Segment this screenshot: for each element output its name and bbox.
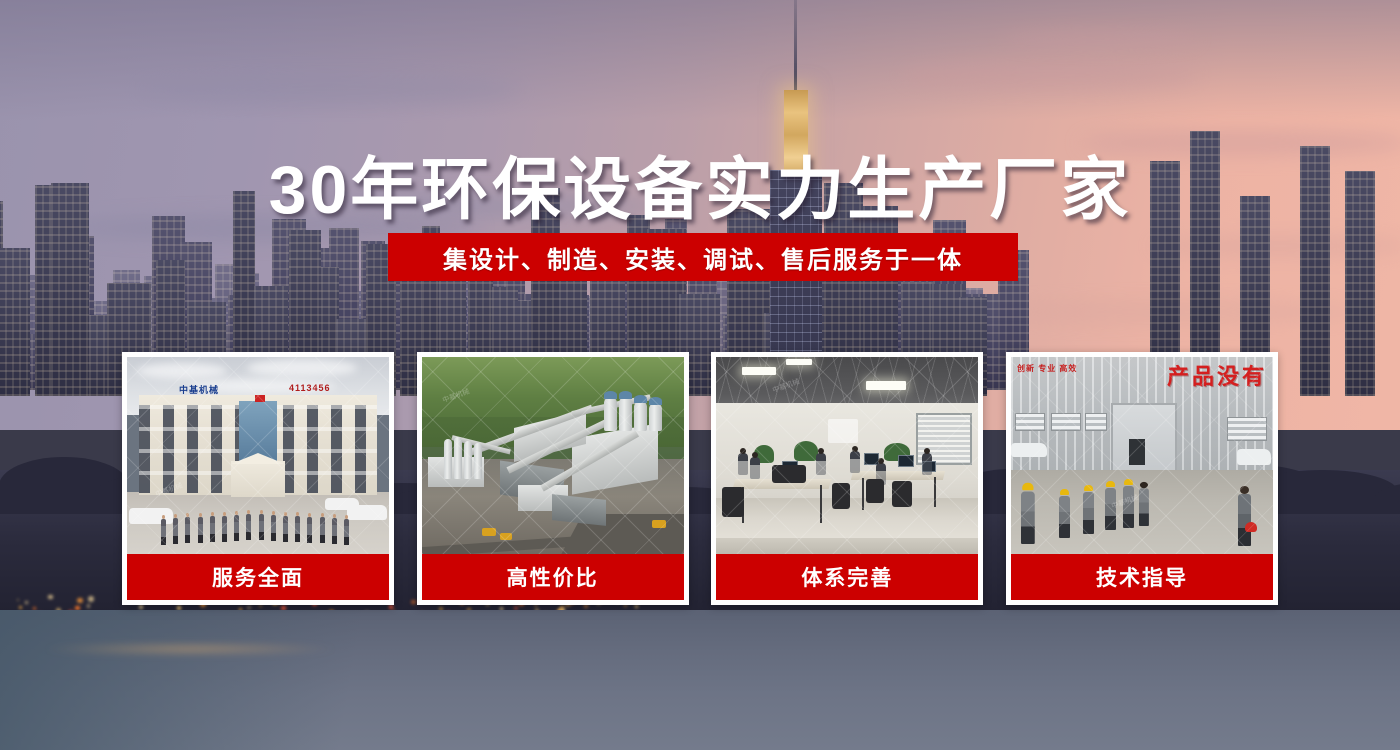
staff-figure bbox=[210, 516, 215, 542]
staff-figure bbox=[234, 515, 239, 541]
hero-banner: 30年环保设备实力生产厂家 集设计、制造、安装、调试、售后服务于一体 中基机械 … bbox=[0, 0, 1400, 750]
staff-figure bbox=[246, 514, 251, 540]
shore-light bbox=[139, 605, 143, 609]
card-photo-workers-training: 创新 专业 高效 产品没有 bbox=[1011, 357, 1273, 554]
card-photo-office-interior: 中基机械 bbox=[716, 357, 978, 554]
shore-light bbox=[88, 596, 94, 602]
subtitle-text: 集设计、制造、安装、调试、售后服务于一体 bbox=[443, 240, 963, 275]
subtitle-bar: 集设计、制造、安装、调试、售后服务于一体 bbox=[388, 233, 1018, 281]
card-photo-sign-text: 中基机械 bbox=[179, 383, 219, 396]
shore-light bbox=[48, 595, 52, 599]
shore-light bbox=[17, 599, 19, 601]
card-caption: 服务全面 bbox=[127, 554, 389, 600]
skyline-building bbox=[0, 248, 30, 396]
feature-card[interactable]: 中基机械 4113456 中基机械 服务全面 bbox=[122, 352, 394, 605]
card-photo-phone-text: 4113456 bbox=[289, 383, 331, 393]
staff-figure bbox=[271, 515, 276, 541]
shore-light bbox=[584, 604, 588, 608]
feature-card[interactable]: 中基机械 高性价比 bbox=[417, 352, 689, 605]
staff-figure bbox=[259, 514, 264, 540]
staff-figure bbox=[320, 517, 325, 543]
staff-figure bbox=[344, 519, 349, 545]
shore-light bbox=[247, 606, 251, 610]
staff-figure bbox=[295, 516, 300, 542]
card-caption: 体系完善 bbox=[716, 554, 978, 600]
page-title: 30年环保设备实力生产厂家 bbox=[0, 134, 1400, 233]
river-light-reflection bbox=[40, 643, 340, 655]
shore-light bbox=[259, 605, 261, 607]
staff-figure bbox=[307, 517, 312, 543]
feature-card-list: 中基机械 4113456 中基机械 服务全面 bbox=[122, 352, 1278, 605]
card-photo-headline-text: 产品没有 bbox=[1167, 359, 1267, 391]
tower-antenna bbox=[794, 0, 797, 95]
card-photo-office-building: 中基机械 4113456 中基机械 bbox=[127, 357, 389, 554]
staff-figure bbox=[161, 519, 166, 545]
shore-light bbox=[25, 601, 28, 604]
staff-figure bbox=[283, 516, 288, 542]
staff-figure bbox=[173, 518, 178, 544]
staff-figure bbox=[222, 516, 227, 542]
feature-card[interactable]: 创新 专业 高效 产品没有 bbox=[1006, 352, 1278, 605]
shore-light bbox=[77, 598, 83, 604]
river-shadow bbox=[0, 610, 460, 750]
staff-figure bbox=[332, 518, 337, 544]
staff-figure bbox=[185, 517, 190, 543]
staff-figure bbox=[198, 517, 203, 543]
card-photo-aerial-plant: 中基机械 bbox=[422, 357, 684, 554]
card-caption: 技术指导 bbox=[1011, 554, 1273, 600]
shore-light bbox=[87, 604, 90, 607]
card-photo-slogan-text: 创新 专业 高效 bbox=[1017, 363, 1077, 374]
card-caption: 高性价比 bbox=[422, 554, 684, 600]
shore-light bbox=[19, 606, 22, 609]
shore-light bbox=[635, 605, 638, 608]
feature-card[interactable]: 中基机械 体系完善 bbox=[711, 352, 983, 605]
